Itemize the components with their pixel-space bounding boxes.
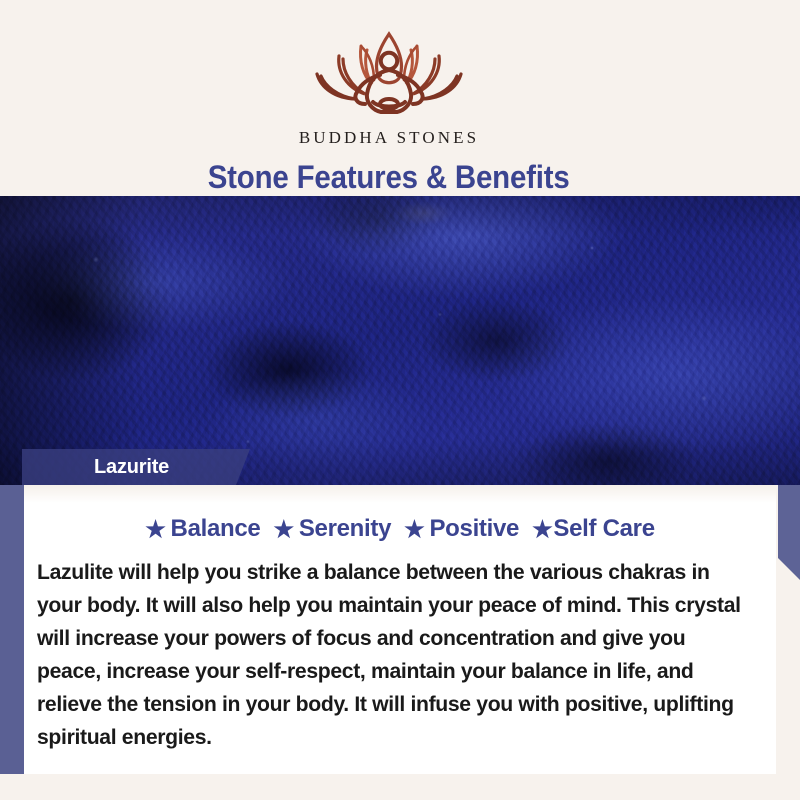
benefit-label: Serenity <box>299 515 391 543</box>
benefit-item-self-care: ★ Self Care <box>532 515 655 543</box>
stone-vignette-overlay <box>0 196 800 485</box>
infographic-poster: Lazurite <box>0 0 800 800</box>
benefits-list: ★ Balance ★ Serenity ★ Positive ★ Self C… <box>24 515 776 543</box>
decor-bottom-cream-strip <box>0 774 800 800</box>
decor-band-right-lower <box>778 484 800 580</box>
stone-photo <box>0 196 800 485</box>
stone-name-banner: Lazurite <box>22 449 250 485</box>
brand-name: BUDDHA STONES <box>299 128 479 148</box>
content-top-fade <box>24 485 776 503</box>
brand-logo <box>274 24 504 127</box>
benefit-item-balance: ★ Balance <box>145 515 260 543</box>
lotus-meditation-logo-icon <box>277 26 501 126</box>
page-title: Stone Features & Benefits <box>208 159 570 196</box>
benefit-item-positive: ★ Positive <box>404 515 519 543</box>
decor-band-left <box>0 478 24 784</box>
benefit-label: Balance <box>171 515 261 543</box>
star-icon: ★ <box>273 518 293 541</box>
benefit-label: Positive <box>429 515 519 543</box>
poster-header: BUDDHA STONES Stone Features & Benefits <box>0 0 800 196</box>
star-icon: ★ <box>532 518 552 541</box>
stone-name-label: Lazurite <box>94 456 169 479</box>
content-panel: ★ Balance ★ Serenity ★ Positive ★ Self C… <box>24 485 776 774</box>
benefit-label: Self Care <box>553 515 654 543</box>
benefit-item-serenity: ★ Serenity <box>273 515 391 543</box>
star-icon: ★ <box>404 518 424 541</box>
star-icon: ★ <box>145 518 165 541</box>
stone-description: Lazulite will help you strike a balance … <box>37 556 753 754</box>
